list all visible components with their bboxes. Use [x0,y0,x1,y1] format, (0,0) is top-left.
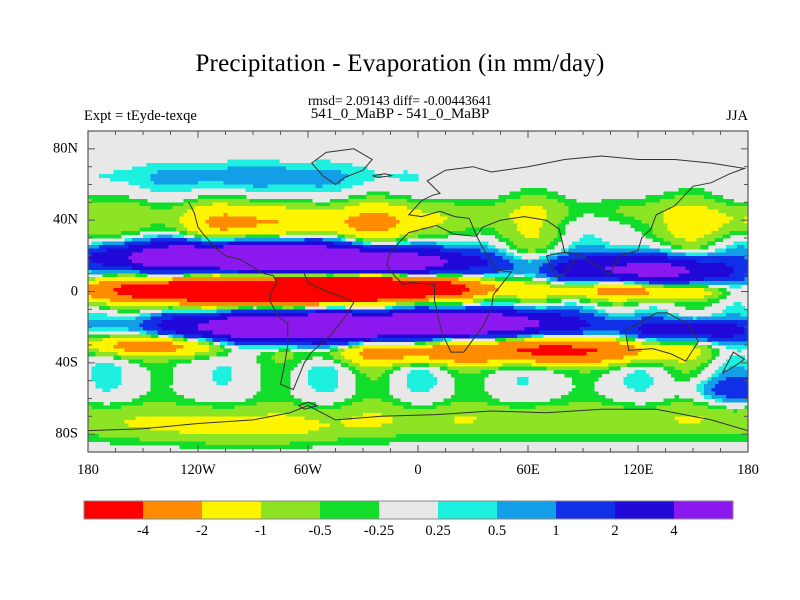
colorbar-tick-label: -2 [196,523,208,540]
colorbar-tick-label: 0.25 [425,523,450,540]
x-axis-tick-label: 60W [294,462,322,479]
colorbar-tick-label: 1 [552,523,559,540]
x-axis-tick-label: 180 [77,462,99,479]
colorbar-tick-label: -1 [255,523,267,540]
figure-title: Precipitation - Evaporation (in mm/day) [0,50,800,78]
x-axis-tick-label: 0 [414,462,421,479]
x-axis-tick-label: 120W [180,462,215,479]
experiment-label: Expt = tEyde-texqe [84,108,197,125]
y-axis-tick-label: 0 [28,283,78,300]
y-axis-tick-label: 40N [28,212,78,229]
colorbar-tick-label: -0.5 [309,523,332,540]
season-label: JJA [726,108,748,125]
colorbar-tick-label: -4 [137,523,149,540]
x-axis-tick-label: 120E [623,462,654,479]
y-axis-tick-label: 80S [28,426,78,443]
x-axis-tick-label: 60E [516,462,539,479]
y-axis-tick-label: 80N [28,140,78,157]
x-axis-tick-label: 180 [737,462,759,479]
colorbar-tick-label: 4 [670,523,677,540]
contour-map-plot [0,0,800,600]
colorbar-tick-label: 0.5 [488,523,506,540]
colorbar-tick-label: -0.25 [364,523,394,540]
y-axis-tick-label: 40S [28,354,78,371]
figure-canvas: Precipitation - Evaporation (in mm/day) … [0,0,800,600]
colorbar-tick-label: 2 [611,523,618,540]
